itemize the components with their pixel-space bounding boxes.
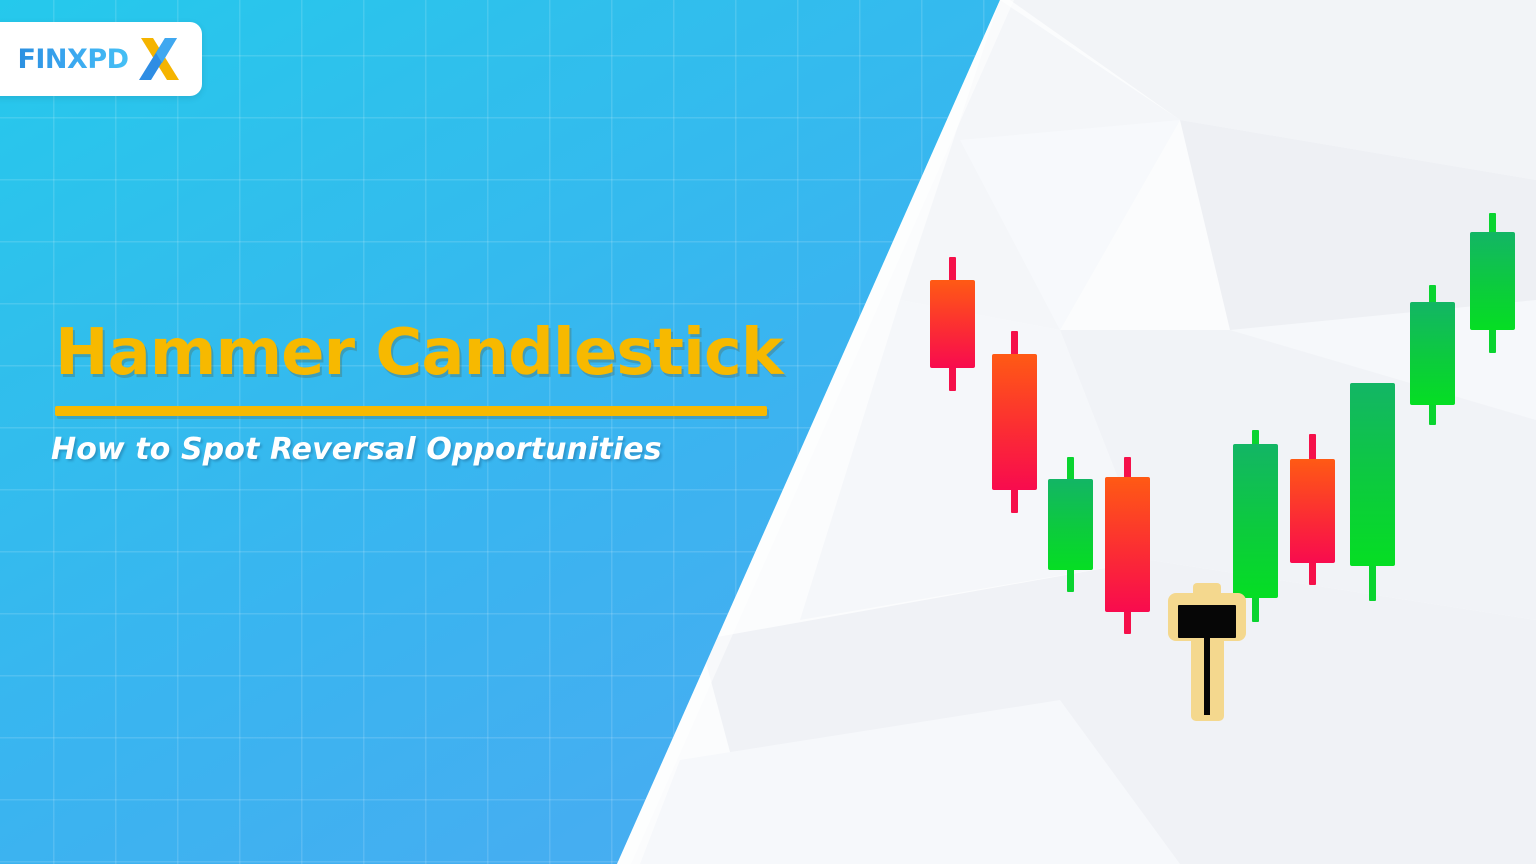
- candle-body: [1410, 302, 1455, 405]
- candle-body: [1470, 232, 1515, 330]
- candle-body: [1350, 383, 1395, 566]
- hammer-tool-icon: [1168, 583, 1246, 721]
- hero-banner: FINXPD Hammer Candlestick How to Spot Re…: [0, 0, 1536, 864]
- candle-4: [1105, 457, 1150, 634]
- candle-body: [1233, 444, 1278, 598]
- candle-body: [992, 354, 1037, 490]
- candle-8: [1350, 383, 1395, 601]
- candle-2: [992, 331, 1037, 513]
- candle-7: [1290, 434, 1335, 585]
- candle-3: [1048, 457, 1093, 592]
- candlestick-chart: [0, 0, 1536, 864]
- candle-body: [1105, 477, 1150, 612]
- candle-body: [1048, 479, 1093, 570]
- candle-10: [1470, 213, 1515, 353]
- candle-9: [1410, 285, 1455, 425]
- candle-body: [930, 280, 975, 368]
- candle-1: [930, 257, 975, 391]
- candle-body: [1290, 459, 1335, 563]
